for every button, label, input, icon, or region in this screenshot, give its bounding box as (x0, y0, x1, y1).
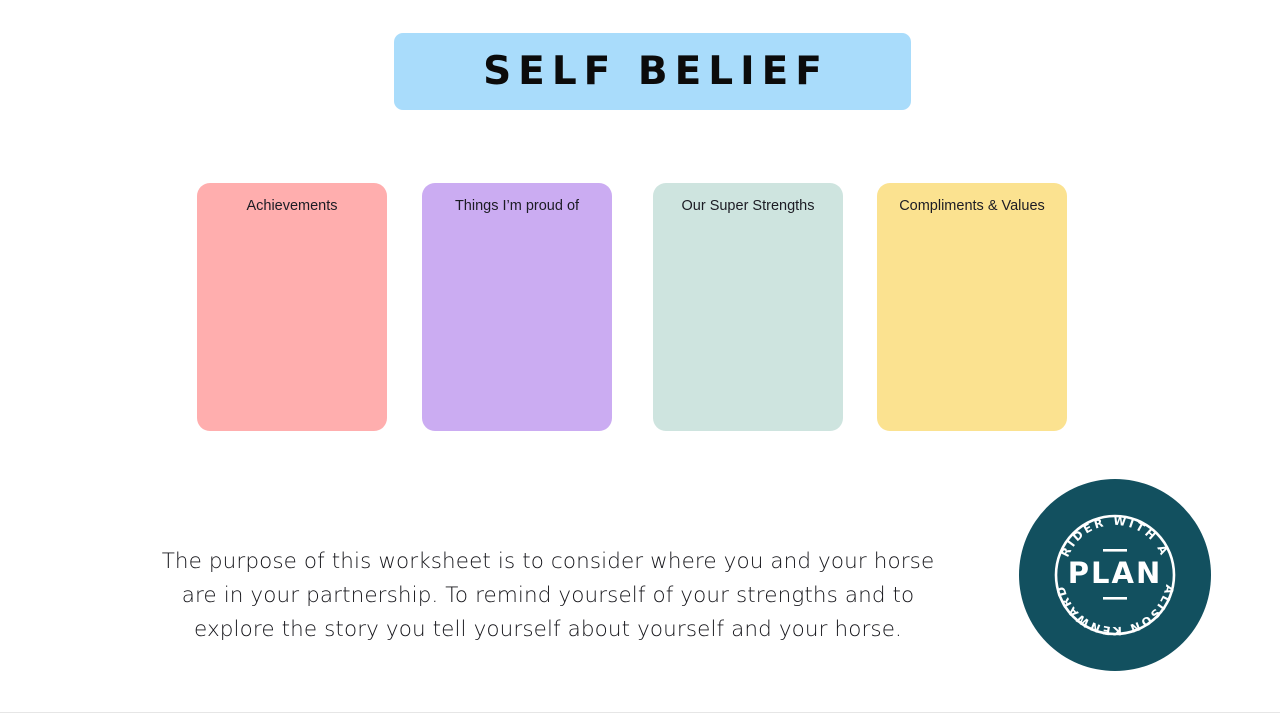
title-banner: SELF BELIEF (394, 33, 911, 110)
prompt-card-compliments-and-values[interactable]: Compliments & Values (877, 183, 1067, 431)
logo-center-text: PLAN (1068, 556, 1162, 590)
logo-divider-top (1103, 549, 1127, 552)
prompt-card-label: Compliments & Values (899, 198, 1045, 215)
prompt-card-label: Achievements (246, 198, 337, 215)
worksheet-slide: SELF BELIEF Achievements Things I’m prou… (0, 0, 1280, 720)
page-title: SELF BELIEF (476, 52, 829, 91)
prompt-card-label: Our Super Strengths (682, 198, 815, 215)
prompt-card-label: Things I’m proud of (455, 198, 579, 215)
prompt-card-achievements[interactable]: Achievements (197, 183, 387, 431)
brand-logo: RIDER WITH A PLAN ALISON KENWARD (1019, 479, 1211, 671)
logo-divider-bottom (1103, 597, 1127, 600)
prompt-card-our-super-strengths[interactable]: Our Super Strengths (653, 183, 843, 431)
logo-badge-icon: RIDER WITH A PLAN ALISON KENWARD (1019, 479, 1211, 671)
prompt-cards-row: Achievements Things I’m proud of Our Sup… (197, 183, 1067, 431)
bottom-divider (0, 712, 1280, 713)
prompt-card-things-im-proud-of[interactable]: Things I’m proud of (422, 183, 612, 431)
purpose-paragraph: The purpose of this worksheet is to cons… (148, 545, 948, 647)
